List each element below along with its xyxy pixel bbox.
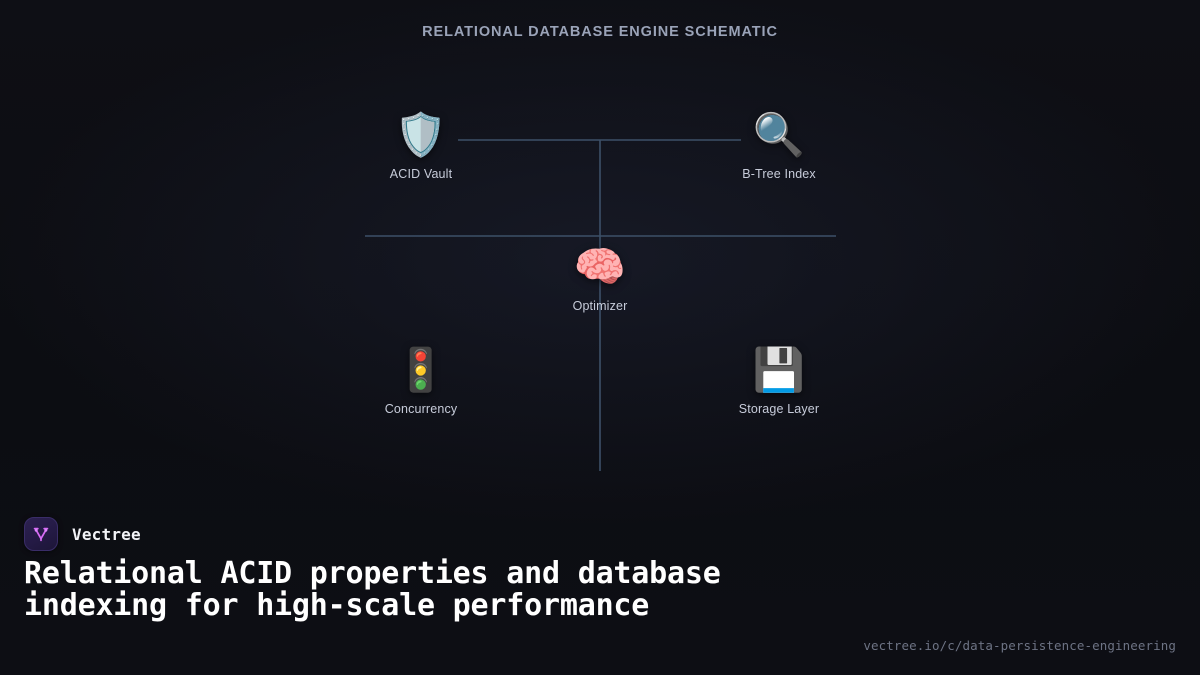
node-optimizer[interactable]: 🧠 Optimizer	[515, 241, 685, 313]
node-acid-vault[interactable]: 🛡️ ACID Vault	[336, 109, 506, 181]
node-label-optimizer: Optimizer	[573, 299, 628, 313]
brain-icon: 🧠	[574, 241, 626, 293]
brand-name: Vectree	[72, 525, 141, 544]
node-storage-layer[interactable]: 💾 Storage Layer	[694, 344, 864, 416]
node-label-acid-vault: ACID Vault	[390, 167, 452, 181]
node-label-storage-layer: Storage Layer	[739, 402, 819, 416]
footer-band: Vectree Relational ACID properties and d…	[0, 490, 1200, 675]
schematic-diagram: 🛡️ ACID Vault 🔍 B-Tree Index 🧠 Optimizer…	[0, 60, 1200, 490]
magnifier-icon: 🔍	[753, 109, 805, 161]
vectree-logo-icon	[24, 517, 58, 551]
shield-icon: 🛡️	[395, 109, 447, 161]
node-label-btree-index: B-Tree Index	[742, 167, 816, 181]
node-label-concurrency: Concurrency	[385, 402, 458, 416]
schematic-title: RELATIONAL DATABASE ENGINE SCHEMATIC	[0, 24, 1200, 40]
floppy-disk-icon: 💾	[753, 344, 805, 396]
headline: Relational ACID properties and database …	[24, 558, 784, 622]
footer-url: vectree.io/c/data-persistence-engineerin…	[863, 638, 1176, 653]
node-btree-index[interactable]: 🔍 B-Tree Index	[694, 109, 864, 181]
brand-row[interactable]: Vectree	[24, 517, 141, 551]
node-concurrency[interactable]: 🚦 Concurrency	[336, 344, 506, 416]
traffic-light-icon: 🚦	[395, 344, 447, 396]
